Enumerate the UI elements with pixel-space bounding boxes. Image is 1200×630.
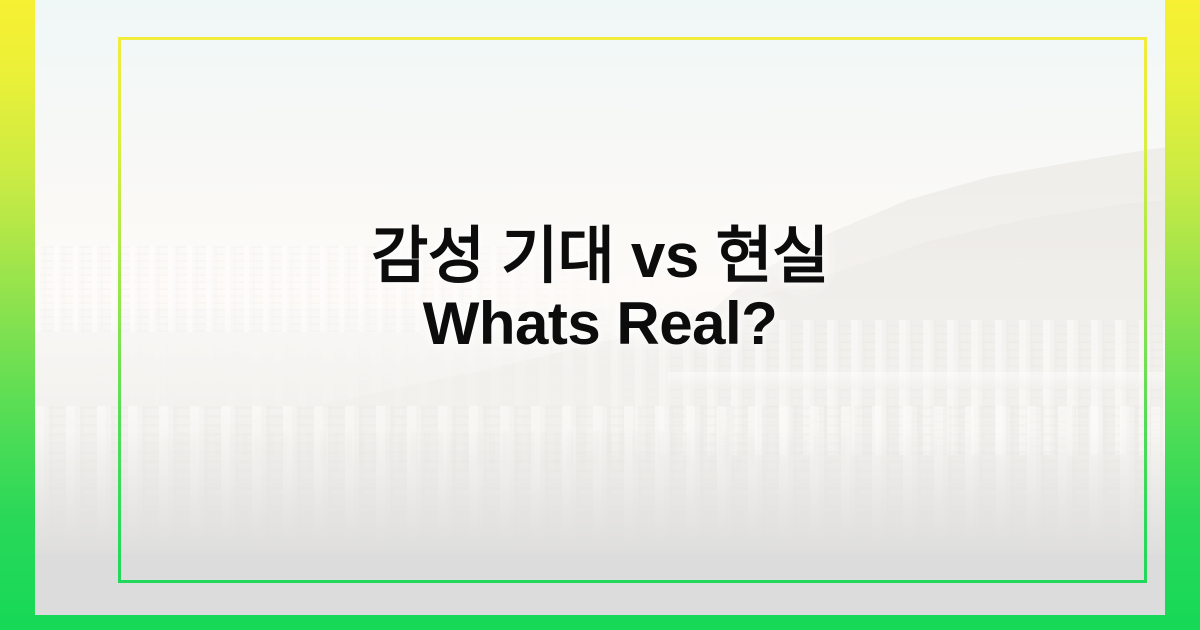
headline-line-2: Whats Real? <box>35 292 1165 356</box>
headline-line-1: 감성 기대 vs 현실 <box>35 224 1165 290</box>
page-title: 감성 기대 vs 현실 Whats Real? <box>35 224 1165 355</box>
content-panel: 감성 기대 vs 현실 Whats Real? <box>35 0 1165 615</box>
poster-canvas: 감성 기대 vs 현실 Whats Real? <box>0 0 1200 630</box>
bottom-flat-band <box>35 554 1165 616</box>
